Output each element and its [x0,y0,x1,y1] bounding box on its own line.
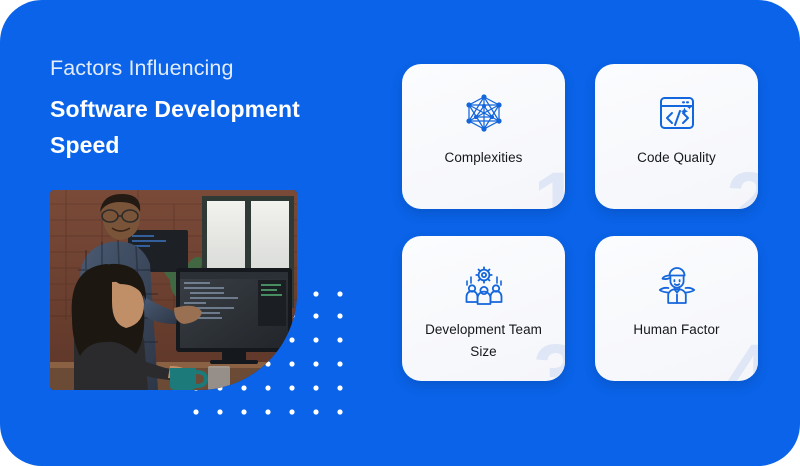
network-graph-icon [462,90,506,136]
factor-card-complexities[interactable]: Complexities 1 [402,64,565,209]
factor-card-label: Complexities [437,147,531,169]
code-window-icon [656,90,698,136]
factor-card-label: Human Factor [625,319,727,341]
factor-card-number: 1 [533,161,565,209]
factor-card-label: Code Quality [629,147,724,169]
factors-card-grid: Complexities 1 [402,64,758,376]
factor-card-team-size[interactable]: Development Team Size 3 [402,236,565,381]
team-gear-icon [461,262,507,308]
team-coding-photo [50,190,297,390]
infographic-canvas: Factors Influencing Software Development… [0,0,800,466]
factor-card-code-quality[interactable]: Code Quality 2 [595,64,758,209]
eyebrow-text: Factors Influencing [50,56,370,81]
factor-card-number: 2 [726,161,758,209]
title-block: Factors Influencing Software Development… [50,56,370,163]
factor-card-label: Development Team Size [402,319,565,363]
person-cap-icon [655,262,699,308]
factor-card-number: 4 [726,333,758,381]
page-title: Software Development Speed [50,91,350,164]
blue-panel: Factors Influencing Software Development… [0,0,800,466]
factor-card-human-factor[interactable]: Human Factor 4 [595,236,758,381]
photo-block [50,190,297,390]
